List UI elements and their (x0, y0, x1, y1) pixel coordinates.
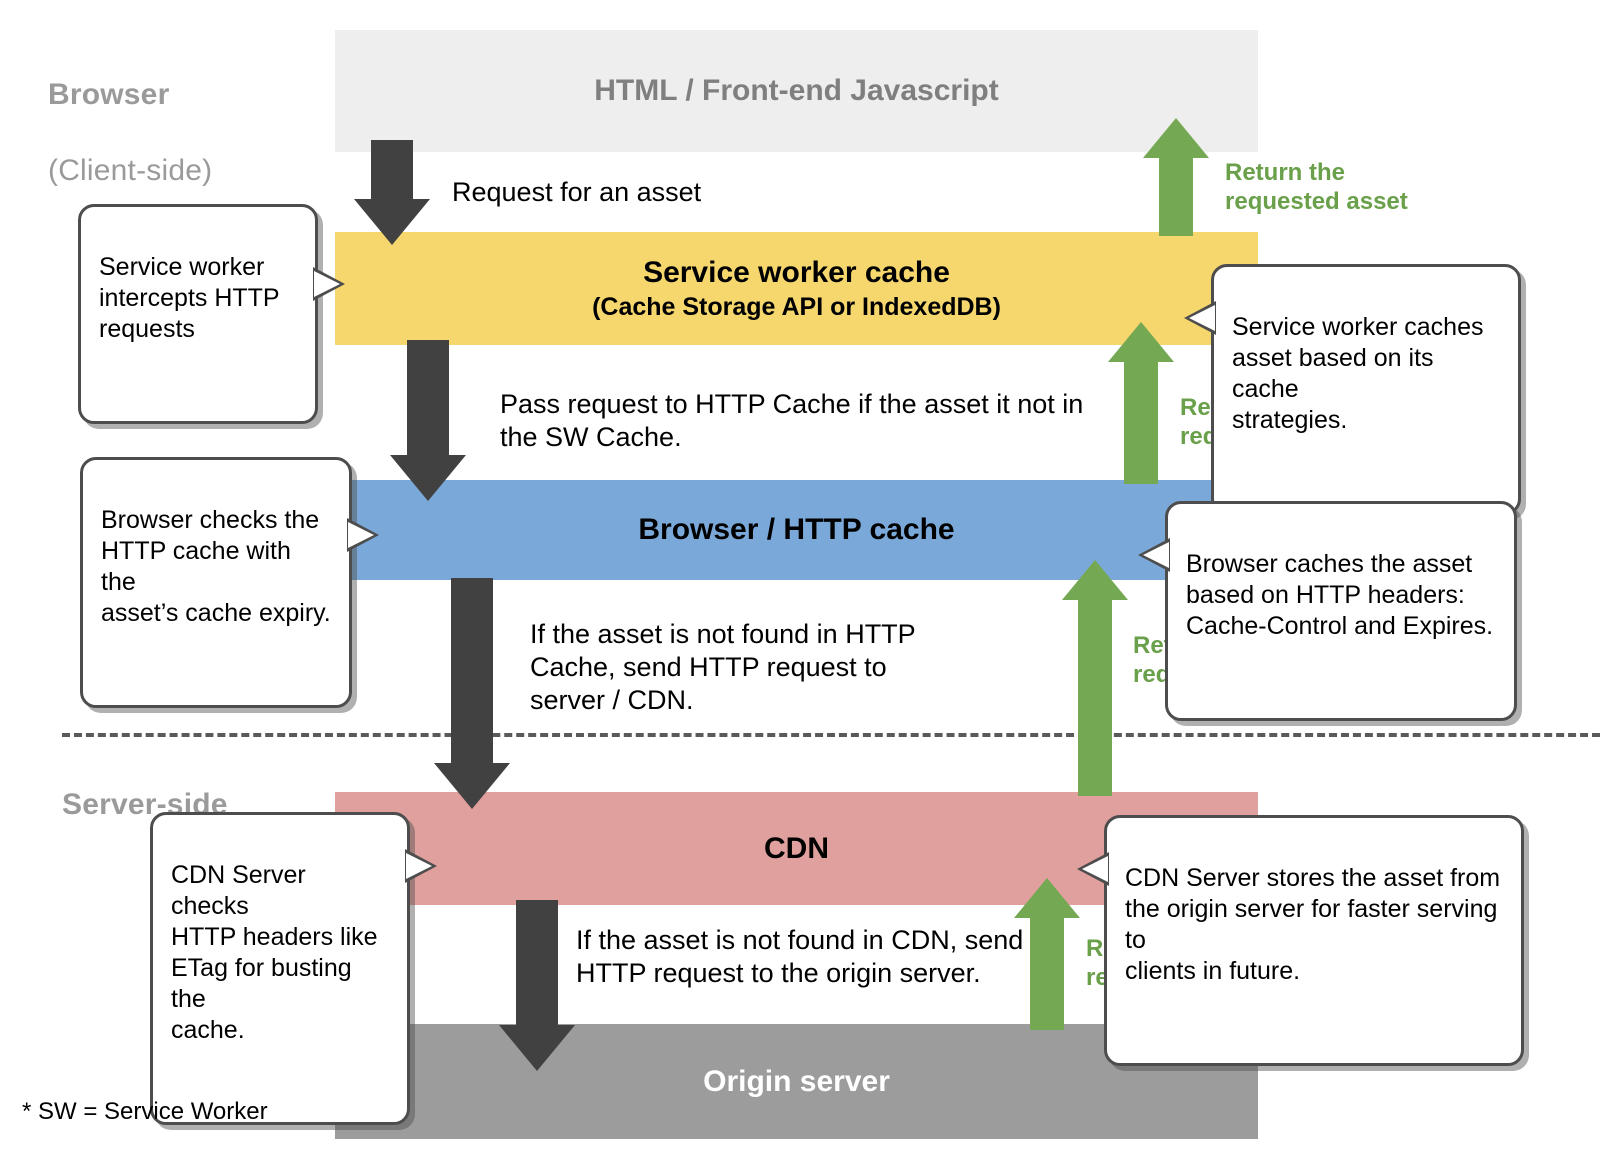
layer-origin-title: Origin server (703, 1064, 890, 1100)
flow-label-send-to-cdn: If the asset is not found in HTTP Cache,… (530, 618, 950, 717)
flow-label-request-asset: Request for an asset (452, 176, 701, 209)
callout-tail-inner-icon (348, 522, 374, 548)
arrow-request-http-to-cdn (432, 578, 512, 808)
callout-tail-inner-icon (1143, 542, 1169, 568)
flow-label-send-to-origin: If the asset is not found in CDN, send H… (576, 924, 1026, 990)
callout-tail-inner-icon (406, 853, 432, 879)
arrow-return-http-to-sw (1106, 322, 1176, 484)
arrow-request-sw-to-http (388, 340, 468, 500)
layer-http-title: Browser / HTTP cache (638, 512, 954, 548)
callout-text: Browser caches the asset based on HTTP h… (1186, 550, 1493, 640)
layer-cdn-title: CDN (764, 831, 829, 867)
layer-html-frontend[interactable]: HTML / Front-end Javascript (335, 30, 1258, 152)
flow-label-pass-to-http: Pass request to HTTP Cache if the asset … (500, 388, 1100, 454)
callout-text: Service worker intercepts HTTP requests (99, 253, 280, 343)
arrow-request-html-to-sw (352, 140, 432, 245)
layer-sw-title: Service worker cache (643, 255, 950, 291)
callout-browser-checks-http-cache[interactable]: Browser checks the HTTP cache with the a… (80, 457, 352, 708)
client-server-divider (62, 733, 1600, 737)
layer-html-title: HTML / Front-end Javascript (594, 73, 999, 109)
flow-label-return-to-html: Return the requested asset (1225, 158, 1408, 216)
section-title-browser: Browser (48, 76, 212, 114)
section-label-browser: Browser (Client-side) (48, 38, 212, 228)
callout-cdn-server-stores-asset[interactable]: CDN Server stores the asset from the ori… (1104, 815, 1524, 1066)
section-subtitle-browser: (Client-side) (48, 152, 212, 190)
callout-browser-caches-asset[interactable]: Browser caches the asset based on HTTP h… (1165, 501, 1517, 721)
layer-sw-subtitle: (Cache Storage API or IndexedDB) (592, 291, 1001, 323)
callout-text: Browser checks the HTTP cache with the a… (101, 506, 331, 627)
footnote-sw-abbreviation: * SW = Service Worker (22, 1098, 268, 1126)
arrow-return-cdn-to-http (1060, 560, 1130, 796)
callout-text: Service worker caches asset based on its… (1232, 313, 1483, 434)
arrow-request-cdn-to-origin (497, 900, 577, 1070)
callout-text: CDN Server checks HTTP headers like ETag… (171, 861, 378, 1044)
callout-tail-inner-icon (314, 271, 340, 297)
arrow-return-sw-to-html (1141, 118, 1211, 236)
callout-text: CDN Server stores the asset from the ori… (1125, 864, 1500, 985)
callout-cdn-server-checks-headers[interactable]: CDN Server checks HTTP headers like ETag… (150, 812, 410, 1125)
callout-service-worker-intercepts[interactable]: Service worker intercepts HTTP requests (78, 204, 318, 424)
callout-service-worker-caches-asset[interactable]: Service worker caches asset based on its… (1211, 264, 1521, 515)
callout-tail-inner-icon (1082, 856, 1108, 882)
callout-tail-inner-icon (1189, 305, 1215, 331)
